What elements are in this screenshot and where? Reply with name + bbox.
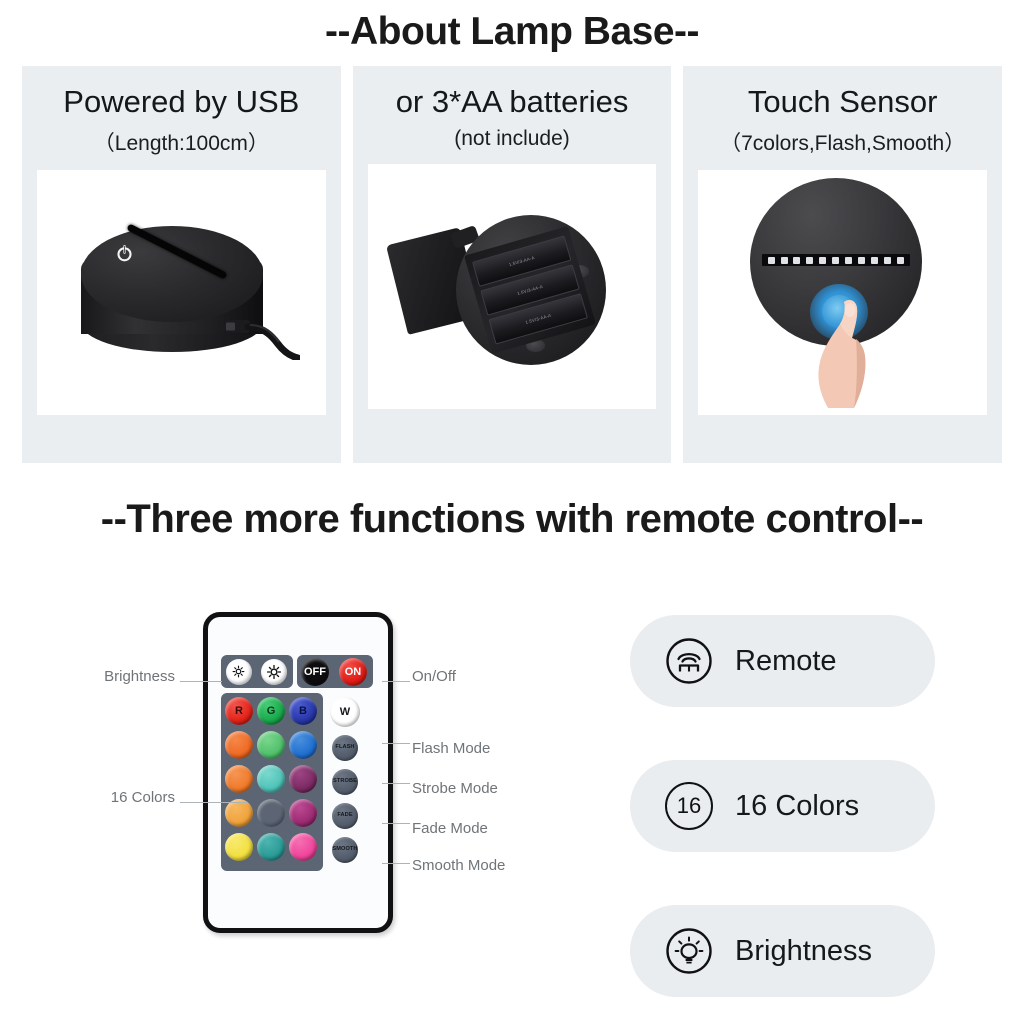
power-icon (115, 244, 134, 263)
sixteen-circle-icon: 16 (665, 782, 713, 830)
card-title: Powered by USB (63, 84, 299, 120)
leader-line-on-off (382, 681, 410, 682)
leader-line-16-colors (180, 802, 248, 803)
mode-button-label: STROBE (333, 779, 357, 785)
feature-pill-label: Brightness (735, 935, 872, 968)
feature-pill-remote[interactable]: Remote (630, 615, 935, 707)
led-strip (762, 254, 910, 266)
brightness-up-button[interactable] (261, 659, 287, 685)
lamp-base-illustration (66, 202, 296, 382)
feature-pill-16-colors[interactable]: 16 16 Colors (630, 760, 935, 852)
battery-slot-label: 1.5V/3-AA-A (508, 255, 535, 267)
led-chip (897, 257, 904, 264)
led-chip (871, 257, 878, 264)
color-button-white[interactable]: W (330, 697, 360, 727)
feature-pill-label: 16 Colors (735, 790, 859, 823)
color-button-orange-red[interactable] (225, 731, 253, 759)
touch-sensor-photo (698, 170, 987, 415)
smooth-mode-button[interactable]: SMOOTH (332, 837, 358, 863)
battery-slot-label: 1.5V/3-AA-A (517, 284, 544, 296)
page-title-remote-functions: --Three more functions with remote contr… (0, 497, 1024, 542)
color-button-pink[interactable] (289, 833, 317, 861)
off-button-label: OFF (304, 667, 326, 678)
color-button-light-green[interactable] (257, 731, 285, 759)
callout-on-off: On/Off (412, 668, 456, 685)
leader-line-strobe-mode (382, 783, 410, 784)
color-button-label: W (340, 707, 350, 718)
battery-slot-label: 1.5V/3-AA-A (525, 313, 552, 325)
card-title: or 3*AA batteries (396, 84, 629, 120)
color-button-magenta-purple[interactable] (289, 799, 317, 827)
led-chip (845, 257, 852, 264)
battery-base-illustration: 1.5V/3-AA-A 1.5V/3-AA-A 1.5V/3-AA-A (390, 193, 634, 379)
sun-small-icon (231, 664, 248, 681)
card-subtitle: （7colors,Flash,Smooth） (720, 127, 965, 157)
color-button-label: G (267, 706, 276, 717)
feature-pill-brightness[interactable]: Brightness (630, 905, 935, 997)
base-top-surface (81, 226, 263, 322)
leader-line-brightness (180, 681, 222, 682)
leader-line-flash-mode (382, 743, 410, 744)
color-button-blue[interactable]: B (289, 697, 317, 725)
color-button-red[interactable]: R (225, 697, 253, 725)
fade-mode-button[interactable]: FADE (332, 803, 358, 829)
callout-fade-mode: Fade Mode (412, 820, 488, 837)
callout-brightness: Brightness (55, 668, 175, 685)
led-chip (819, 257, 826, 264)
led-chip (806, 257, 813, 264)
lamp-base-card-row: Powered by USB （Length:100cm） (22, 66, 1002, 463)
color-button-cyan-blue[interactable] (257, 799, 285, 827)
color-button-label: B (299, 706, 307, 717)
flash-mode-button[interactable]: FLASH (332, 735, 358, 761)
feature-pill-list: Remote 16 16 Colors (630, 615, 935, 997)
off-button[interactable]: OFF (301, 658, 329, 686)
sun-large-icon (266, 664, 283, 681)
infographic-page: --About Lamp Base-- Powered by USB （Leng… (0, 0, 1024, 1024)
led-chip (793, 257, 800, 264)
on-button[interactable]: ON (339, 658, 367, 686)
color-button-turquoise[interactable] (257, 765, 285, 793)
color-button-grid: R G B (221, 693, 323, 871)
sixteen-badge-value: 16 (677, 793, 701, 819)
card-touch-sensor: Touch Sensor （7colors,Flash,Smooth） (683, 66, 1002, 463)
card-subtitle: (not include) (454, 127, 570, 151)
card-title: Touch Sensor (748, 84, 938, 120)
battery-compartment-photo: 1.5V/3-AA-A 1.5V/3-AA-A 1.5V/3-AA-A (368, 164, 657, 409)
color-button-purple[interactable] (289, 765, 317, 793)
callout-smooth-mode: Smooth Mode (412, 857, 505, 874)
color-button-azure[interactable] (289, 731, 317, 759)
color-button-teal[interactable] (257, 833, 285, 861)
callout-flash-mode: Flash Mode (412, 740, 490, 757)
color-button-yellow[interactable] (225, 833, 253, 861)
callout-16-colors: 16 Colors (55, 789, 175, 806)
led-chip (781, 257, 788, 264)
color-button-label: R (235, 706, 243, 717)
color-button-orange[interactable] (225, 765, 253, 793)
power-button-group: OFF ON (297, 655, 373, 688)
led-chip (832, 257, 839, 264)
on-button-label: ON (345, 667, 362, 678)
led-chip (884, 257, 891, 264)
brightness-down-button[interactable] (226, 659, 252, 685)
feature-pill-label: Remote (735, 645, 837, 678)
page-title-about-lamp-base: --About Lamp Base-- (0, 10, 1024, 54)
callout-strobe-mode: Strobe Mode (412, 780, 498, 797)
lamp-base-usb-photo (37, 170, 326, 415)
mode-button-label: FADE (337, 813, 352, 819)
led-chip (858, 257, 865, 264)
leader-line-smooth-mode (382, 863, 410, 864)
mode-button-label: FLASH (335, 745, 354, 751)
remote-signal-icon (665, 637, 713, 685)
strobe-mode-button[interactable]: STROBE (332, 769, 358, 795)
mode-button-label: SMOOTH (332, 847, 357, 853)
card-powered-by-usb: Powered by USB （Length:100cm） (22, 66, 341, 463)
usb-cable (224, 314, 300, 360)
lightbulb-icon (665, 927, 713, 975)
card-aa-batteries: or 3*AA batteries (not include) 1.5V/3-A… (353, 66, 672, 463)
remote-control[interactable]: OFF ON R G B (203, 612, 393, 933)
pointing-finger-icon (810, 292, 872, 410)
led-chip (768, 257, 775, 264)
card-subtitle: （Length:100cm） (94, 127, 269, 157)
leader-line-fade-mode (382, 823, 410, 824)
brightness-button-group (221, 655, 293, 688)
color-button-amber[interactable] (225, 799, 253, 827)
touch-base-illustration (724, 172, 962, 412)
color-button-green[interactable]: G (257, 697, 285, 725)
